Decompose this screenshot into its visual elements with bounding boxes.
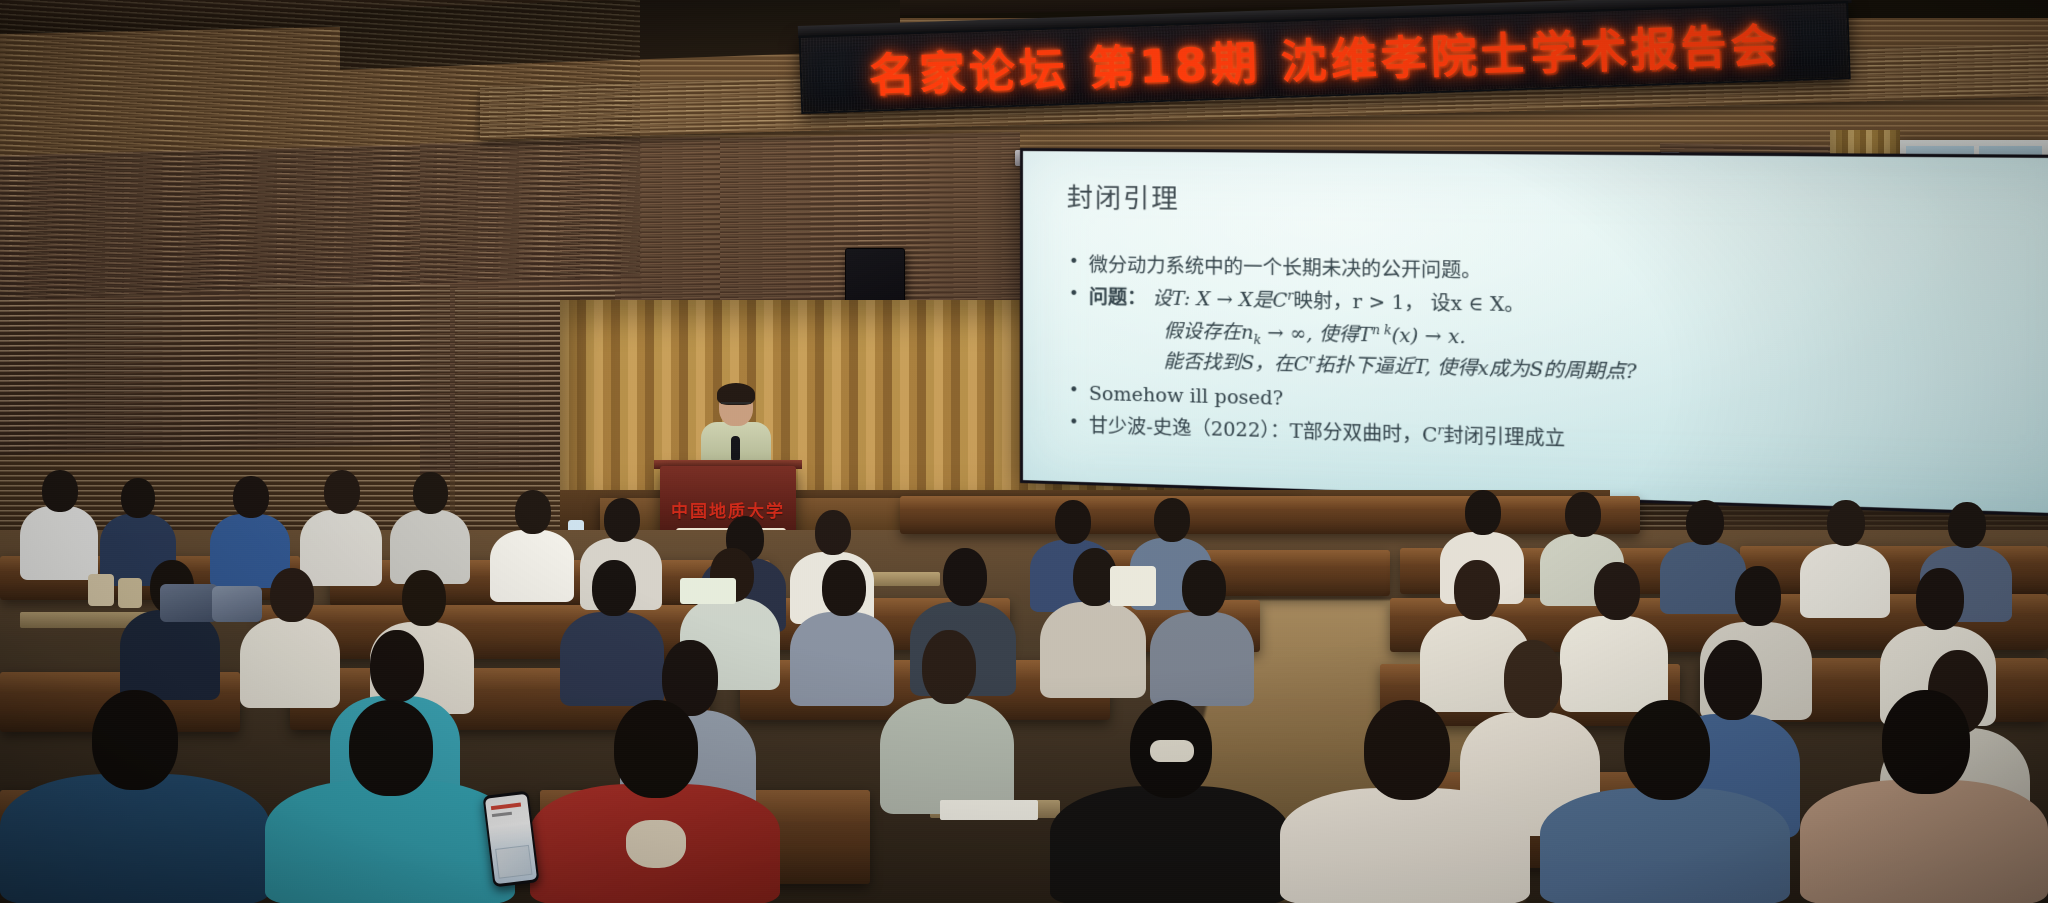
slide-title: 封闭引理 [1067, 177, 2048, 226]
slide-bullet-4-1: 甘少波-史逸（2022）：T部分双曲时，C [1089, 415, 1438, 447]
slide-bullet-4-2: 封闭引理成立 [1444, 424, 1566, 450]
phone-screen[interactable] [485, 794, 537, 884]
person-head [402, 570, 446, 626]
audience-member-foreground [0, 690, 270, 903]
audience-member [1800, 500, 1890, 618]
person-head [1735, 566, 1781, 626]
slide-subline-b-2: 拓扑下逼近T, 使得x成为S的周期点? [1315, 354, 1637, 384]
person-body [1150, 612, 1254, 706]
audience-member-foreground [1280, 700, 1530, 903]
person-head [1916, 568, 1964, 630]
person-body [20, 506, 98, 580]
slide-subline-b-1: 能否找到S，在C [1163, 351, 1308, 377]
backpack [212, 586, 262, 622]
audience-member-foreground [1050, 700, 1290, 903]
person-head [1827, 500, 1865, 546]
audience-member-foreground [265, 700, 515, 903]
slide-bullet-2-label: 问题： [1089, 286, 1146, 309]
exponent-nk: n k [1372, 323, 1392, 338]
person-head [822, 560, 866, 616]
backpack [160, 584, 218, 622]
person-head [1055, 500, 1091, 544]
phone-ui-bar [491, 803, 521, 811]
person-head [270, 568, 314, 622]
person-head [92, 690, 178, 790]
audience-member-foreground [1800, 690, 2048, 903]
person-head [1686, 500, 1724, 545]
person-body [120, 610, 220, 700]
audience-member [20, 470, 98, 580]
person-head [922, 630, 976, 704]
audience-member [1150, 560, 1254, 706]
person-body [265, 780, 515, 903]
paper-cup [88, 574, 114, 606]
lecture-hall-scene: 名家论坛 第18期 沈维孝院士学术报告会 封闭引理 微分动力系统中的一个长期未决… [0, 0, 2048, 903]
notebook [940, 800, 1038, 820]
person-head [42, 470, 78, 512]
bench-row-back [900, 496, 1640, 534]
person-head [1154, 498, 1190, 542]
tote-bag [1110, 566, 1156, 606]
person-body [1800, 780, 2048, 903]
person-body [1800, 544, 1890, 618]
person-head [1594, 562, 1640, 620]
presentation-slide: 封闭引理 微分动力系统中的一个长期未决的公开问题。 问题： 设T: X → X是… [1023, 151, 2048, 515]
microphone-icon [731, 436, 740, 462]
person-head [943, 548, 987, 606]
person-head [1465, 490, 1501, 535]
shoe [1150, 740, 1194, 762]
audience-member [790, 560, 894, 706]
bench-backrest [900, 496, 1640, 509]
projection-screen: 封闭引理 微分动力系统中的一个长期未决的公开问题。 问题： 设T: X → X是… [1023, 151, 2048, 515]
person-body [880, 698, 1014, 814]
slide-bullet-2-tail: 映射，r > 1， 设x ∈ X。 [1293, 290, 1524, 317]
paper-sheet [680, 578, 736, 604]
audience-member [390, 472, 470, 584]
person-body [1540, 788, 1790, 903]
person-head [370, 630, 424, 702]
person-head [413, 472, 448, 514]
person-head [121, 478, 155, 518]
person-body [1280, 788, 1530, 903]
person-head [1454, 560, 1500, 620]
person-body-ny-shirt [0, 774, 270, 903]
slide-bullet-2-body: 设T: X → X是C [1152, 287, 1287, 312]
person-head [1182, 560, 1226, 616]
person-head [515, 490, 551, 534]
person-head [324, 470, 360, 514]
person-head [1624, 700, 1710, 800]
glasses-icon [721, 402, 751, 408]
person-head [604, 498, 640, 542]
projection-screen-frame: 封闭引理 微分动力系统中的一个长期未决的公开问题。 问题： 设T: X → X是… [1020, 148, 2048, 518]
person-head [233, 476, 269, 518]
person-head [349, 700, 433, 796]
person-body [790, 612, 894, 706]
person-head [1948, 502, 1986, 548]
audience-member [880, 630, 1014, 814]
audience-member-foreground [1540, 700, 1790, 903]
paper-cup [118, 578, 142, 608]
person-head [815, 510, 851, 555]
slide-subline-a-2: → ∞, 使得T [1261, 322, 1372, 347]
person-head [1364, 700, 1450, 800]
person-body [1050, 786, 1290, 903]
audience-member-foreground [530, 700, 780, 903]
phone-ui-bar [492, 812, 512, 817]
person-head [592, 560, 636, 616]
slide-subline-a-1: 假设存在n [1163, 320, 1253, 344]
person-head [1882, 690, 1970, 794]
subscript-k: k [1254, 333, 1261, 347]
person-body [1040, 602, 1146, 698]
person-head [1565, 492, 1601, 537]
person-head [614, 700, 698, 798]
slide-subline-a-3: (x) → x. [1392, 325, 1466, 349]
shirt-mask-graphic [626, 820, 686, 868]
phone-map-widget [495, 845, 532, 879]
